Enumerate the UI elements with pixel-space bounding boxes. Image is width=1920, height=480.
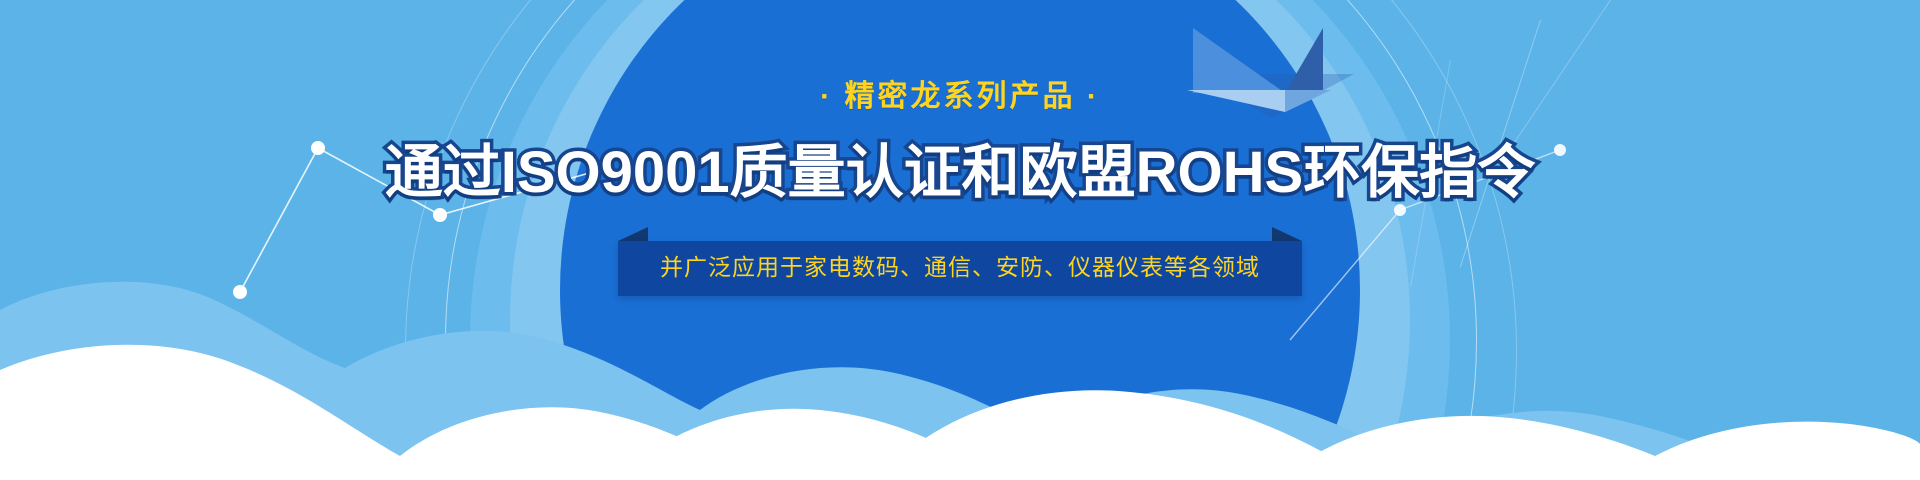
promo-banner: · 精密龙系列产品 · 通过ISO9001质量认证和欧盟ROHS环保指令 并广泛…: [0, 0, 1920, 480]
cloud-decoration: [0, 180, 1920, 480]
banner-eyebrow: · 精密龙系列产品 ·: [0, 82, 1920, 112]
cloud-front-far-left: [0, 406, 200, 480]
